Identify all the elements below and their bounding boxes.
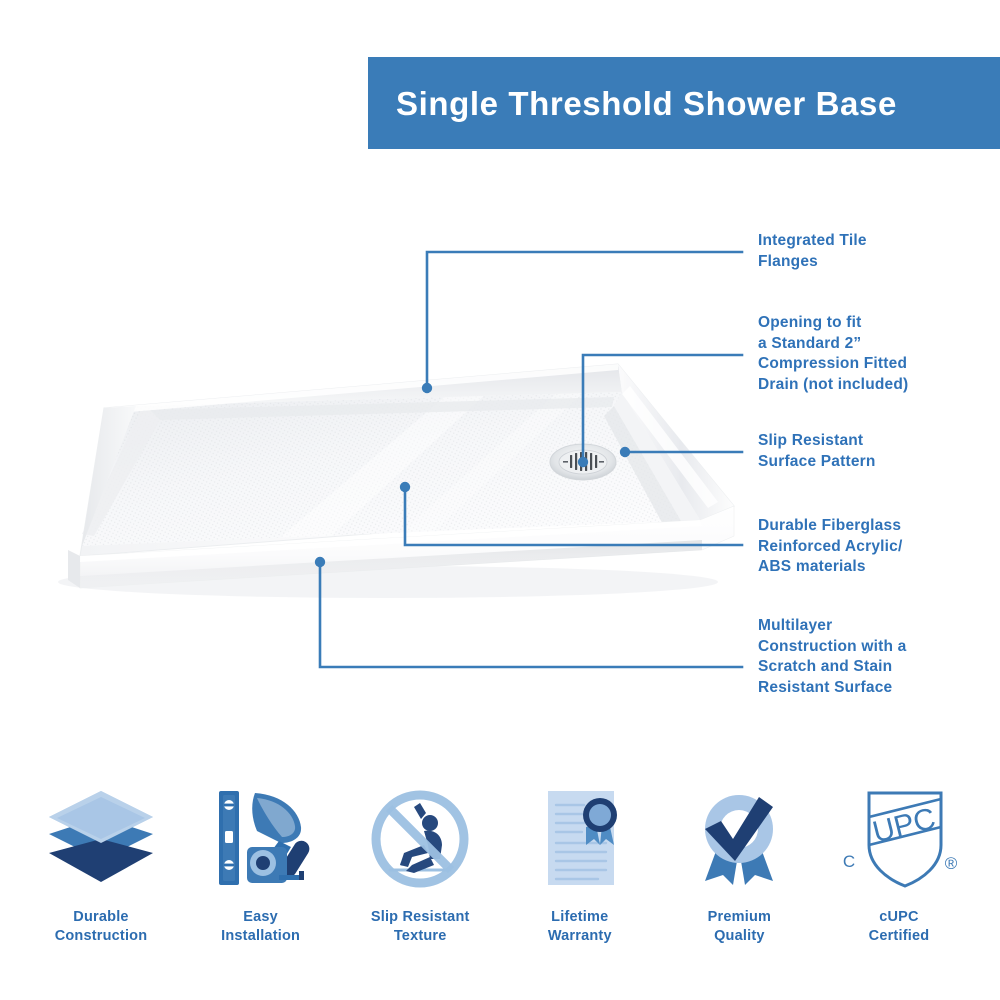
upc-left-mark: C xyxy=(843,852,855,871)
feature-label: cUPC Certified xyxy=(869,908,930,946)
feature-label: Lifetime Warranty xyxy=(548,908,612,946)
feature-label: Durable Construction xyxy=(55,908,148,946)
feature-easy-installation: Easy Installation xyxy=(186,780,336,946)
feature-label: Easy Installation xyxy=(221,908,300,946)
callout-integrated-tile-flanges: Integrated Tile Flanges xyxy=(758,231,867,272)
layers-icon xyxy=(45,780,157,898)
upc-shield-icon: UPC C ® xyxy=(839,780,959,898)
feature-icons-row: Durable Construction xyxy=(0,780,1000,975)
check-rosette-icon xyxy=(683,780,795,898)
upc-text: UPC xyxy=(869,802,938,849)
callout-slip-resistant-surface-pattern: Slip Resistant Surface Pattern xyxy=(758,431,876,472)
feature-label: Premium Quality xyxy=(708,908,771,946)
upc-right-mark: ® xyxy=(945,854,958,873)
feature-premium-quality: Premium Quality xyxy=(664,780,814,946)
page-title: Single Threshold Shower Base xyxy=(396,87,897,120)
feature-slip-resistant-texture: Slip Resistant Texture xyxy=(345,780,495,946)
feature-lifetime-warranty: Lifetime Warranty xyxy=(505,780,655,946)
feature-label: Slip Resistant Texture xyxy=(371,908,470,946)
callout-drain-opening: Opening to fit a Standard 2” Compression… xyxy=(758,313,908,395)
callout-multilayer-construction: Multilayer Construction with a Scratch a… xyxy=(758,616,906,698)
certificate-icon xyxy=(524,780,636,898)
product-infographic: Single Threshold Shower Base xyxy=(0,0,1000,1000)
product-image xyxy=(18,350,748,610)
feature-durable-construction: Durable Construction xyxy=(26,780,176,946)
tools-icon xyxy=(205,780,317,898)
callout-durable-materials: Durable Fiberglass Reinforced Acrylic/ A… xyxy=(758,516,903,578)
header-banner: Single Threshold Shower Base xyxy=(368,57,1000,149)
feature-cupc-certified: UPC C ® cUPC Certified xyxy=(824,780,974,946)
no-slip-icon xyxy=(364,780,476,898)
drain-cover xyxy=(550,444,616,480)
